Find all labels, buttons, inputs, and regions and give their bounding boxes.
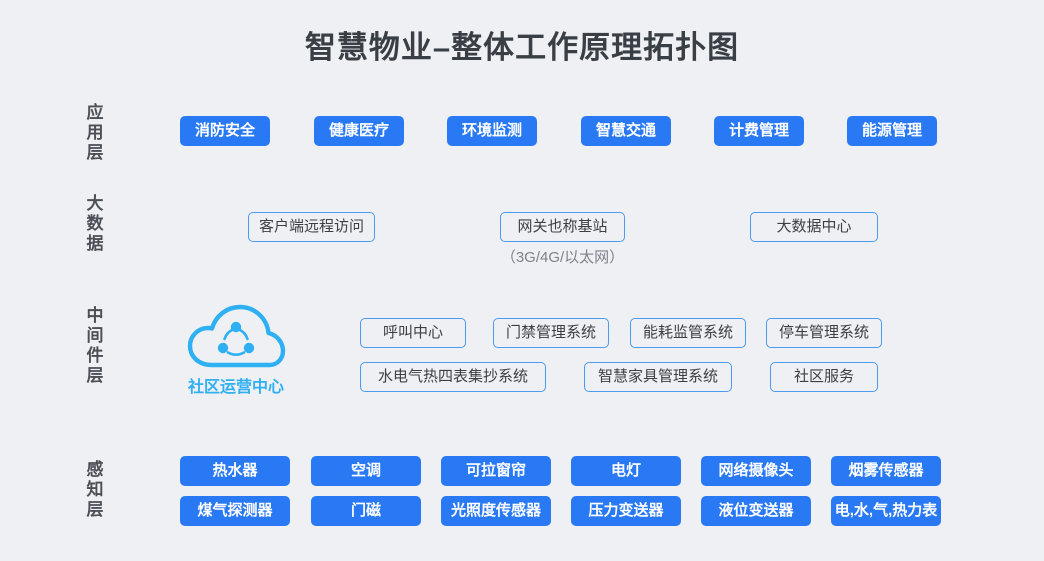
- bigdata-gateway-caption: （3G/4G/以太网）: [500, 246, 625, 267]
- app-item-environment-monitoring[interactable]: 环境监测: [447, 116, 537, 146]
- middleware-item-energy-supervision-system[interactable]: 能耗监管系统: [630, 318, 746, 348]
- sensor-item-gas-detector[interactable]: 煤气探测器: [180, 496, 290, 526]
- community-operation-center[interactable]: 社区运营中心: [180, 303, 292, 397]
- layer-label-application: 应用层: [80, 103, 110, 163]
- middleware-item-parking-management-system[interactable]: 停车管理系统: [766, 318, 882, 348]
- cloud-caption: 社区运营中心: [180, 373, 292, 397]
- topology-diagram: 智慧物业–整体工作原理拓扑图 应用层 大数据 中间件层 感知层 消防安全 健康医…: [0, 0, 1044, 561]
- sensor-item-network-camera[interactable]: 网络摄像头: [701, 456, 811, 486]
- bigdata-item-client-remote-access[interactable]: 客户端远程访问: [248, 212, 375, 242]
- app-item-billing-management[interactable]: 计费管理: [714, 116, 804, 146]
- sensor-item-water-heater[interactable]: 热水器: [180, 456, 290, 486]
- sensor-item-door-magnet[interactable]: 门磁: [311, 496, 421, 526]
- sensor-item-air-conditioner[interactable]: 空调: [311, 456, 421, 486]
- middleware-item-call-center[interactable]: 呼叫中心: [360, 318, 466, 348]
- app-item-smart-traffic[interactable]: 智慧交通: [581, 116, 671, 146]
- bigdata-item-gateway-base-station[interactable]: 网关也称基站: [500, 212, 625, 242]
- middleware-item-four-meter-reading-system[interactable]: 水电气热四表集抄系统: [360, 362, 546, 392]
- bigdata-item-big-data-center[interactable]: 大数据中心: [750, 212, 878, 242]
- layer-label-big-data: 大数据: [80, 194, 110, 254]
- layer-label-perception: 感知层: [80, 460, 110, 520]
- sensor-item-light[interactable]: 电灯: [571, 456, 681, 486]
- app-item-health-care[interactable]: 健康医疗: [314, 116, 404, 146]
- layer-label-middleware: 中间件层: [80, 306, 110, 386]
- middleware-item-access-control-system[interactable]: 门禁管理系统: [493, 318, 609, 348]
- sensor-item-level-transmitter[interactable]: 液位变送器: [701, 496, 811, 526]
- sensor-item-utility-meters[interactable]: 电,水,气,热力表: [831, 496, 941, 526]
- app-item-fire-safety[interactable]: 消防安全: [180, 116, 270, 146]
- sensor-item-illuminance-sensor[interactable]: 光照度传感器: [441, 496, 551, 526]
- sensor-item-smoke-detector[interactable]: 烟雾传感器: [831, 456, 941, 486]
- app-item-energy-management[interactable]: 能源管理: [847, 116, 937, 146]
- cloud-network-icon: [180, 303, 292, 371]
- sensor-item-curtain[interactable]: 可拉窗帘: [441, 456, 551, 486]
- sensor-item-pressure-transmitter[interactable]: 压力变送器: [571, 496, 681, 526]
- page-title: 智慧物业–整体工作原理拓扑图: [0, 22, 1044, 67]
- middleware-item-community-service[interactable]: 社区服务: [770, 362, 878, 392]
- middleware-item-smart-furniture-system[interactable]: 智慧家具管理系统: [584, 362, 732, 392]
